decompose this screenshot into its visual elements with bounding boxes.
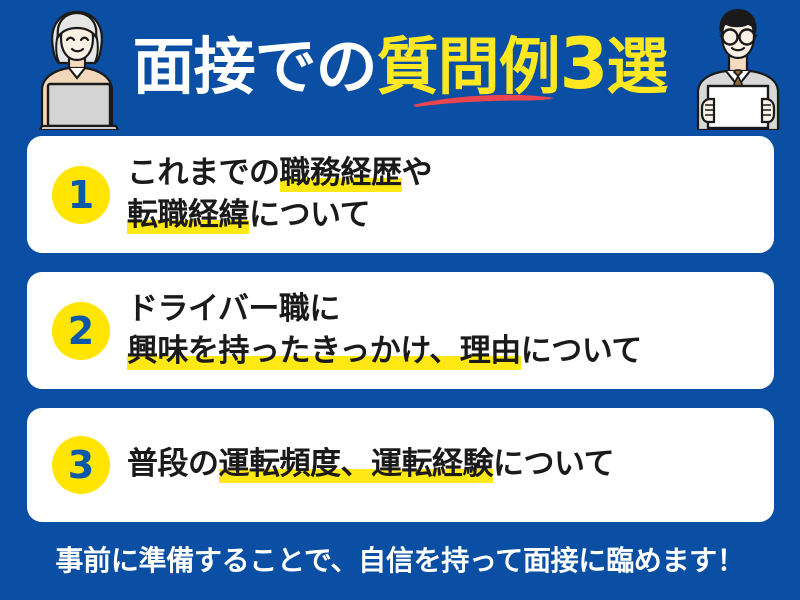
title-number: 3 xyxy=(560,23,607,105)
title-part-yellow: 質問例 xyxy=(377,30,560,103)
card-text: 普段の運転頻度、運転経験について xyxy=(127,444,774,485)
poster-root: 面接での質問例3選 xyxy=(0,0,800,600)
man-with-glasses-holding-document-illustration xyxy=(682,4,794,130)
footer-message: 事前に準備することで、自信を持って面接に臨めます！ xyxy=(55,539,744,579)
question-card-2[interactable]: 2 ドライバー職に 興味を持ったきっかけ、理由について xyxy=(27,272,774,389)
footer-banner: 事前に準備することで、自信を持って面接に臨めます！ xyxy=(0,528,800,590)
highlighted-text-segment: 転職経緯 xyxy=(127,197,249,234)
woman-at-laptop-illustration xyxy=(22,4,132,130)
text-segment: について xyxy=(521,333,642,369)
question-card-1[interactable]: 1 これまでの職務経歴や 転職経緯について xyxy=(27,136,774,253)
card-text-line: 転職経緯について xyxy=(127,195,774,236)
question-card-list: 1 これまでの職務経歴や 転職経緯について 2 ドライバー職に 興味を持ったきっ… xyxy=(27,136,774,522)
card-number-badge: 1 xyxy=(52,166,110,224)
text-segment: 普段の xyxy=(127,446,219,482)
header-banner: 面接での質問例3選 xyxy=(0,0,800,130)
card-text-line: 普段の運転頻度、運転経験について xyxy=(127,444,774,485)
card-number-badge: 2 xyxy=(52,302,110,360)
card-text-line: これまでの職務経歴や xyxy=(127,153,774,194)
card-text: ドライバー職に 興味を持ったきっかけ、理由について xyxy=(127,289,774,371)
title-suffix: 選 xyxy=(606,30,667,103)
text-segment: について xyxy=(493,446,614,482)
text-segment: ドライバー職に xyxy=(127,291,340,327)
page-title: 面接での質問例3選 xyxy=(133,29,668,99)
question-card-3[interactable]: 3 普段の運転頻度、運転経験について xyxy=(27,408,774,522)
card-text-line: 興味を持ったきっかけ、理由について xyxy=(127,331,774,372)
highlighted-text-segment: 興味を持ったきっかけ、理由 xyxy=(127,333,521,370)
highlighted-text-segment: 職務経歴 xyxy=(280,155,402,192)
text-segment: これまでの xyxy=(127,155,280,191)
title-part-white: 面接での xyxy=(133,30,377,103)
text-segment: について xyxy=(249,197,370,233)
highlighted-text-segment: 運転頻度、運転経験 xyxy=(219,446,494,483)
title-wrap: 面接での質問例3選 xyxy=(120,14,680,114)
card-number-badge: 3 xyxy=(52,436,110,494)
text-segment: や xyxy=(402,155,433,191)
card-text-line: ドライバー職に xyxy=(127,289,774,330)
card-text: これまでの職務経歴や 転職経緯について xyxy=(127,153,774,235)
